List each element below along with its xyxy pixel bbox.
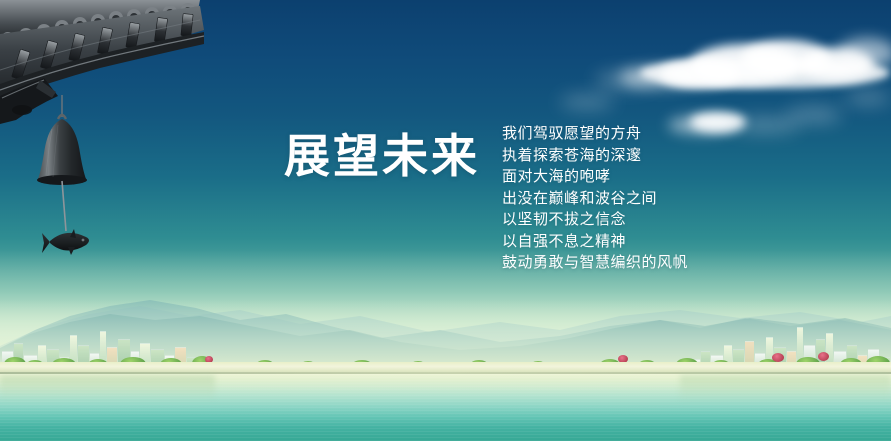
- poem-line: 我们驾驭愿望的方舟: [502, 123, 712, 145]
- poem-line: 执着探索苍海的深邃: [502, 145, 712, 167]
- poem-line: 出没在巅峰和波谷之间: [502, 188, 712, 210]
- poem-line: 以坚韧不拔之信念: [502, 209, 712, 231]
- page-title: 展望未来: [284, 120, 480, 186]
- banner-image: 展望未来 我们驾驭愿望的方舟 执着探索苍海的深邃 面对大海的咆哮 出没在巅峰和波…: [0, 0, 891, 441]
- poem-line: 以自强不息之精神: [502, 231, 712, 253]
- water-reflection-left: [0, 375, 215, 401]
- poem-block: 我们驾驭愿望的方舟 执着探索苍海的深邃 面对大海的咆哮 出没在巅峰和波谷之间 以…: [502, 123, 712, 274]
- wind-bell-assembly: [28, 95, 108, 299]
- poem-line: 鼓动勇敢与智慧编织的风帆: [502, 252, 712, 274]
- poem-line: 面对大海的咆哮: [502, 166, 712, 188]
- water-reflection-right: [680, 375, 891, 403]
